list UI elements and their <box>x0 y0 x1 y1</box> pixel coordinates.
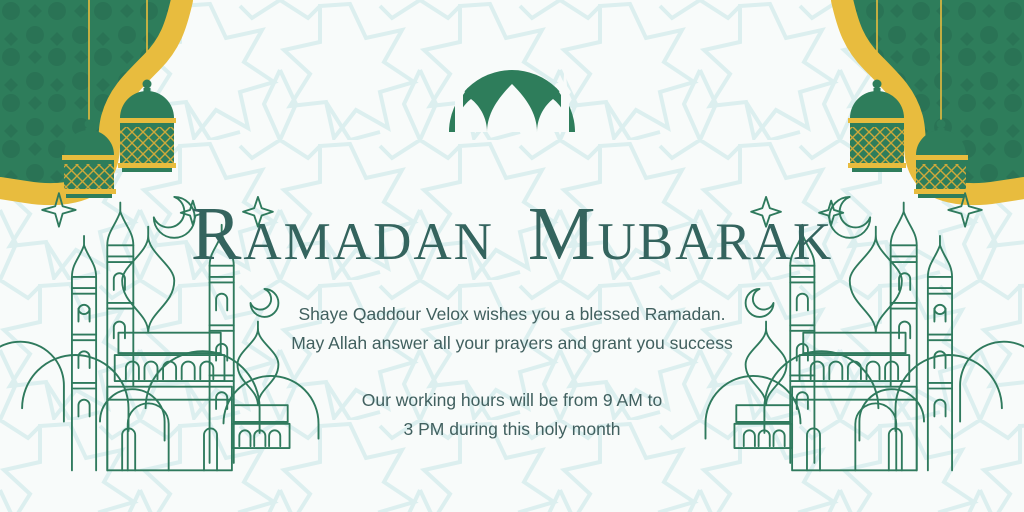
working-hours-message: Our working hours will be from 9 AM to 3… <box>0 386 1024 444</box>
headline-word-mubarak: Mubarak <box>528 196 833 272</box>
page-title: RamadanMubarak <box>0 196 1024 272</box>
greeting-message: Shaye Qaddour Velox wishes you a blessed… <box>0 300 1024 358</box>
ramadan-greeting-card: RamadanMubarak Shaye Qaddour Velox wishe… <box>0 0 1024 512</box>
headline-word-ramadan: Ramadan <box>191 196 494 272</box>
